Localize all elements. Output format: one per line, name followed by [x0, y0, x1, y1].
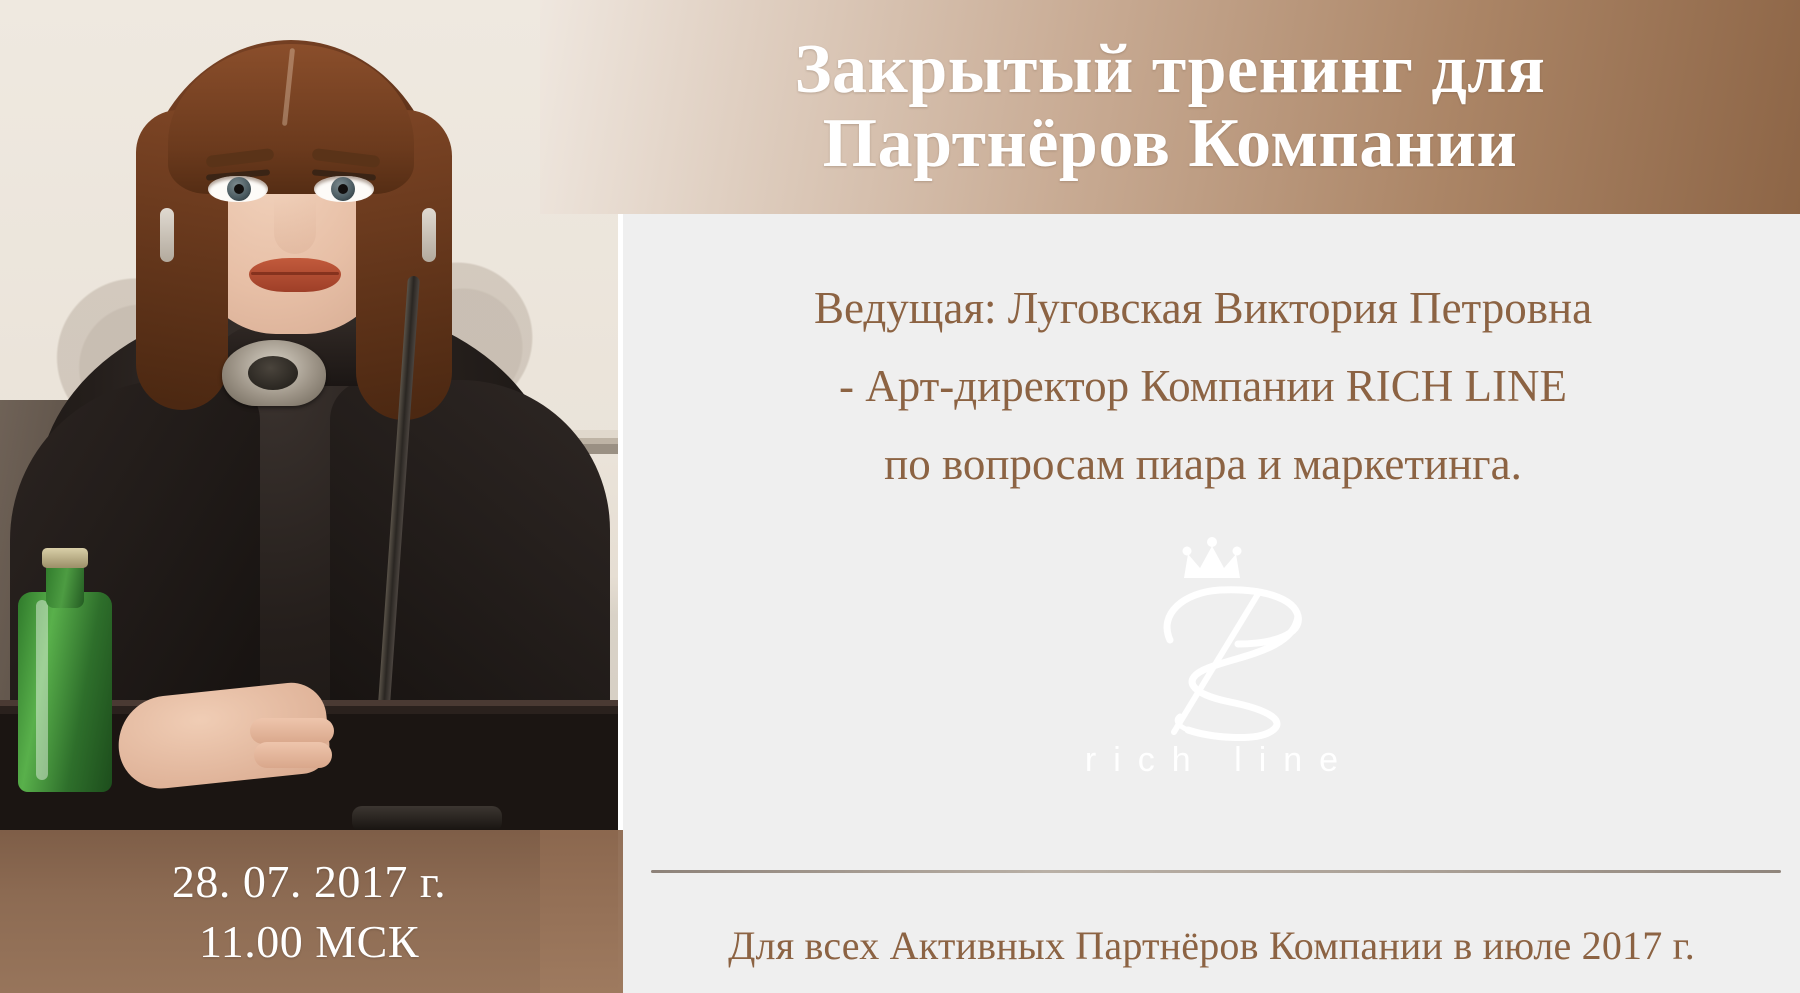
pupil-left: [234, 184, 244, 194]
logo-monogram-icon: [1062, 532, 1362, 747]
rich-line-logo: rich line: [623, 532, 1800, 832]
iris-right: [331, 177, 355, 201]
eye-left: [208, 176, 268, 202]
info-panel: Ведущая: Луговская Виктория Петровна - А…: [623, 214, 1800, 993]
brooch: [222, 340, 326, 406]
earring-left: [160, 208, 174, 262]
nose: [274, 196, 316, 254]
lips: [249, 258, 341, 292]
page-title: Закрытый тренинг для Партнёров Компании: [769, 33, 1572, 181]
promo-banner: 28. 07. 2017 г. 11.00 МСК Закрытый трени…: [0, 0, 1800, 993]
finger-2: [254, 742, 332, 768]
speaker-name-line: Ведущая: Луговская Виктория Петровна: [613, 286, 1793, 331]
date-time-overlay: 28. 07. 2017 г. 11.00 МСК: [0, 830, 618, 993]
lip-line: [251, 272, 339, 275]
footer-caption: Для всех Активных Партнёров Компании в и…: [623, 898, 1800, 993]
microphone-base: [352, 806, 502, 832]
bottle-cap: [42, 548, 88, 568]
page-title-line-1: Закрытый тренинг для: [795, 33, 1546, 107]
finger-1: [250, 718, 334, 744]
iris-left: [227, 177, 251, 201]
speaker-info: Ведущая: Луговская Виктория Петровна - А…: [613, 286, 1793, 520]
pupil-right: [338, 184, 348, 194]
bottle-body: [18, 592, 112, 792]
bottle-highlight: [36, 600, 48, 780]
eye-right: [314, 176, 374, 202]
speaker-topic-line: по вопросам пиара и маркетинга.: [613, 442, 1793, 487]
page-title-line-2: Партнёров Компании: [795, 107, 1546, 181]
event-date: 28. 07. 2017 г.: [172, 853, 446, 911]
event-time: 11.00 МСК: [199, 913, 419, 971]
speaker-photo: 28. 07. 2017 г. 11.00 МСК: [0, 0, 618, 993]
overlay-bleed-strip: [540, 830, 623, 993]
footer-caption-text: Для всех Активных Партнёров Компании в и…: [728, 922, 1695, 969]
logo-wordmark: rich line: [1068, 741, 1355, 780]
divider: [651, 870, 1781, 873]
banner-header: Закрытый тренинг для Партнёров Компании: [540, 0, 1800, 214]
brooch-center: [248, 356, 298, 390]
speaker-role-line: - Арт-директор Компании RICH LINE: [613, 364, 1793, 409]
